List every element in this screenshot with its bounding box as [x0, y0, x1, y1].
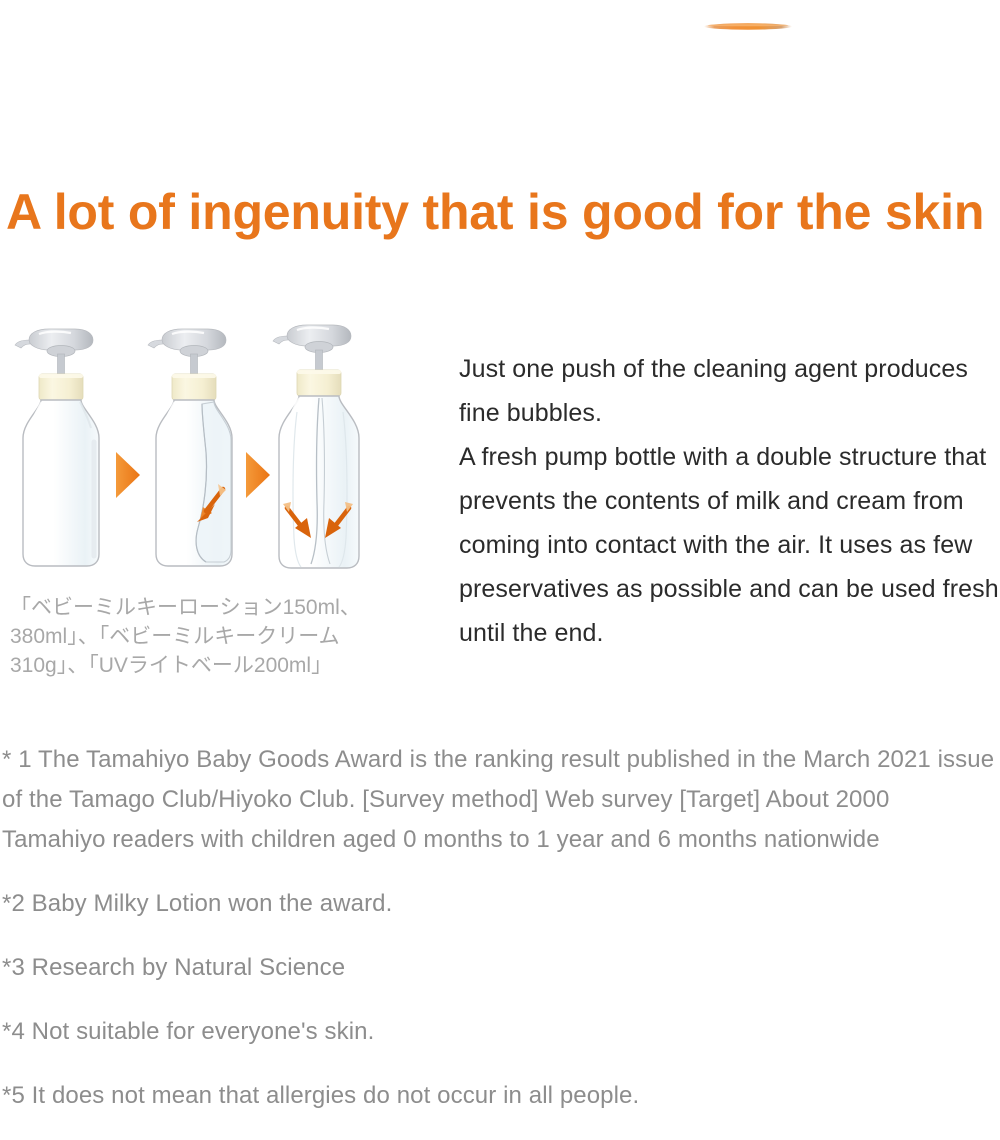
footnote-3: *3 Research by Natural Science — [2, 948, 998, 988]
feature-description: Just one push of the cleaning agent prod… — [459, 347, 999, 655]
step-arrow-1 — [116, 452, 140, 498]
orange-arc-ornament — [703, 19, 793, 30]
footnote-5: *5 It does not mean that allergies do no… — [2, 1076, 998, 1116]
product-feature-page: A lot of ingenuity that is good for the … — [0, 0, 1000, 1000]
bottle-full — [15, 329, 99, 566]
footnote-4: *4 Not suitable for everyone's skin. — [2, 1012, 998, 1052]
bottle-half — [148, 329, 232, 566]
footnote-2: *2 Baby Milky Lotion won the award. — [2, 884, 998, 924]
footnotes: * 1 The Tamahiyo Baby Goods Award is the… — [2, 716, 998, 1140]
illustration-caption-jp: 「ベビーミルキーローション150ml、380ml」、「ベビーミルキークリーム31… — [10, 593, 390, 680]
footnote-1: * 1 The Tamahiyo Baby Goods Award is the… — [2, 740, 998, 860]
step-arrow-2 — [246, 452, 270, 498]
bottle-empty — [273, 325, 359, 568]
page-title: A lot of ingenuity that is good for the … — [6, 177, 991, 247]
pump-bottle-double-structure-diagram — [0, 312, 400, 574]
